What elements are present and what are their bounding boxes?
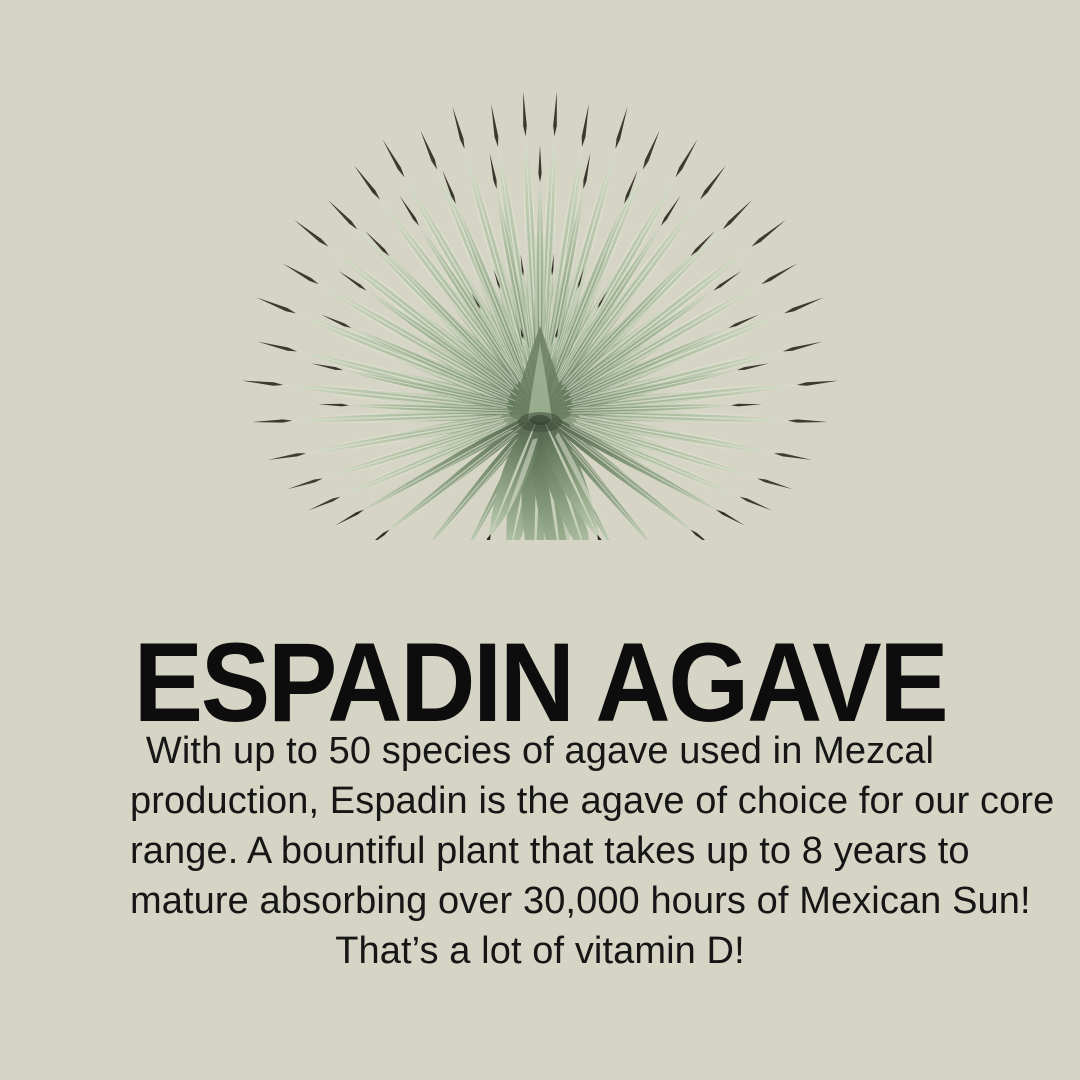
- description-line-2: production, Espadin is the agave of choi…: [130, 776, 950, 826]
- description-line-1: With up to 50 species of agave used in M…: [130, 726, 950, 776]
- agave-rosette: [241, 91, 839, 540]
- agave-plant-image: [0, 0, 1080, 540]
- page-title: ESPADIN AGAVE: [38, 627, 1042, 739]
- description-line-5: That’s a lot of vitamin D!: [130, 926, 950, 976]
- description-text: With up to 50 species of agave used in M…: [130, 726, 950, 976]
- description-line-4: mature absorbing over 30,000 hours of Me…: [130, 876, 950, 926]
- description-line-3: range. A bountiful plant that takes up t…: [130, 826, 950, 876]
- agave-info-card: ESPADIN AGAVE With up to 50 species of a…: [0, 0, 1080, 1080]
- agave-plant-svg: [0, 0, 1080, 540]
